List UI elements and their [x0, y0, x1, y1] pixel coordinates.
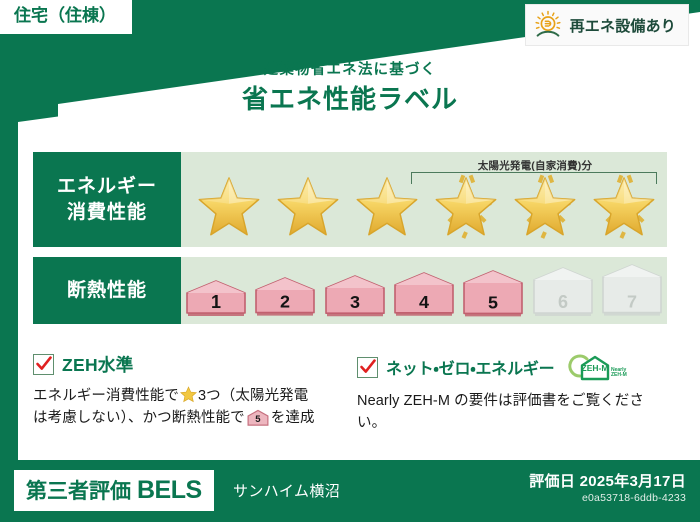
star-icon — [354, 174, 420, 240]
star-base — [347, 170, 426, 243]
evaluation-date: 評価日 2025年3月17日 — [529, 470, 686, 491]
evaluation-id: e0a53718-6ddb-4233 — [582, 492, 686, 504]
star-icon — [591, 174, 657, 240]
energy-performance-row: エネルギー 消費性能 太陽光発電(自家消費)分 — [33, 152, 667, 247]
title-subtitle: 建築物省エネ法に基づく — [0, 62, 700, 79]
star-icon — [512, 174, 578, 240]
bels-mark: BELS — [137, 476, 202, 505]
insulation-level-value: 1 — [211, 292, 221, 312]
zeh-m-logo-text: ZEH-M — [582, 363, 609, 373]
criteria-section: ZEH水準 エネルギー消費性能で3つ（太陽光発電は考慮しない）、かつ断熱性能で5… — [33, 352, 667, 435]
insulation-level-2: 2 — [250, 261, 319, 319]
house-badge-icon: 3 — [324, 274, 386, 319]
inline-house-value: 5 — [255, 414, 261, 425]
star-solar — [505, 170, 584, 243]
insulation-level-1: 1 — [181, 261, 250, 319]
criterion-zeh-title: ZEH水準 — [62, 352, 134, 377]
house-badge-icon: 6 — [532, 266, 594, 319]
inline-star-icon — [180, 386, 197, 403]
star-solar — [426, 170, 505, 243]
house-badge-icon: 5 — [462, 269, 524, 319]
house-badge-icon: 2 — [254, 276, 316, 319]
check-icon — [35, 355, 53, 373]
insulation-level-value: 7 — [627, 292, 637, 312]
zeh-m-logo-sub2: ZEH-M — [611, 372, 627, 378]
renewable-badge-label: 再エネ設備あり — [570, 15, 676, 36]
star-icon — [196, 174, 262, 240]
check-icon — [359, 358, 377, 376]
zeh-body-part3: は考慮しない）、かつ断熱性能で — [33, 410, 245, 426]
label-title-block: 建築物省エネ法に基づく 省エネ性能ラベル — [0, 62, 700, 116]
ratings-section: エネルギー 消費性能 太陽光発電(自家消費)分 — [33, 152, 667, 334]
insulation-level-4: 4 — [389, 261, 458, 319]
star-icon — [275, 174, 341, 240]
house-badge-icon: 7 — [601, 263, 663, 319]
criterion-nze-header: ネット・ゼロ・エネルギー ZEH-M Nearly ZEH-M — [357, 352, 667, 382]
criterion-net-zero-energy: ネット・ゼロ・エネルギー ZEH-M Nearly ZEH-M Nearly Z… — [357, 352, 667, 435]
insulation-level-6: 6 — [528, 261, 597, 319]
renewable-equipment-badge: 再エネ設備あり — [526, 5, 688, 45]
star-base — [189, 170, 268, 243]
house-badge-icon: 1 — [185, 279, 247, 319]
star-solar — [584, 170, 663, 243]
insulation-level-3: 3 — [320, 261, 389, 319]
energy-label-line1: エネルギー — [57, 174, 157, 200]
criterion-nze-title: ネット・ゼロ・エネルギー — [386, 355, 554, 379]
insulation-performance-row: 断熱性能 1 2 3 — [33, 257, 667, 324]
house-badge-icon: 4 — [393, 271, 455, 319]
solar-sun-icon — [534, 10, 564, 40]
bels-certification-box: 第三者評価 BELS — [14, 470, 214, 511]
zeh-body-part4: を達成 — [271, 410, 315, 426]
category-tag: 住宅（住棟） — [0, 0, 132, 34]
third-party-eval-text: 第三者評価 — [26, 475, 131, 505]
criterion-zeh-level: ZEH水準 エネルギー消費性能で3つ（太陽光発電は考慮しない）、かつ断熱性能で5… — [33, 352, 357, 435]
energy-label-line2: 消費性能 — [67, 200, 147, 226]
insulation-level-value: 6 — [558, 292, 568, 312]
insulation-levels-panel: 1 2 3 4 5 — [181, 257, 667, 324]
building-name: サンハイム横沼 — [233, 480, 340, 501]
energy-stars-panel: 太陽光発電(自家消費)分 — [181, 152, 667, 247]
label-footer: 第三者評価 BELS サンハイム横沼 評価日 2025年3月17日 e0a537… — [0, 460, 700, 522]
insulation-level-value: 2 — [280, 292, 290, 312]
insulation-level-7: 7 — [598, 261, 667, 319]
star-icon — [433, 174, 499, 240]
criterion-zeh-body: エネルギー消費性能で3つ（太陽光発電は考慮しない）、かつ断熱性能で5を達成 — [33, 385, 343, 430]
criterion-zeh-header: ZEH水準 — [33, 352, 343, 377]
energy-performance-label: エネルギー 消費性能 — [33, 152, 181, 247]
zeh-body-part1: エネルギー消費性能で — [33, 388, 179, 404]
inline-house-level-icon: 5 — [247, 409, 269, 426]
insulation-label-text: 断熱性能 — [67, 278, 147, 304]
zeh-m-logo: ZEH-M Nearly ZEH-M — [566, 352, 628, 382]
insulation-performance-label: 断熱性能 — [33, 257, 181, 324]
insulation-level-value: 5 — [488, 292, 498, 312]
insulation-level-5: 5 — [459, 261, 528, 319]
star-rating-group — [189, 170, 663, 243]
criterion-nze-body: Nearly ZEH-M の要件は評価書をご覧ください。 — [357, 390, 667, 435]
title-main: 省エネ性能ラベル — [0, 84, 700, 115]
star-base — [268, 170, 347, 243]
bels-energy-label: 住宅（住棟） 再エネ設備あり — [0, 0, 700, 522]
insulation-level-value: 4 — [419, 292, 429, 312]
checkbox-net-zero-energy[interactable] — [357, 357, 378, 378]
zeh-body-part2: 3つ（太陽光発電 — [198, 388, 308, 404]
checkbox-zeh-level[interactable] — [33, 354, 54, 375]
insulation-level-value: 3 — [350, 292, 360, 312]
